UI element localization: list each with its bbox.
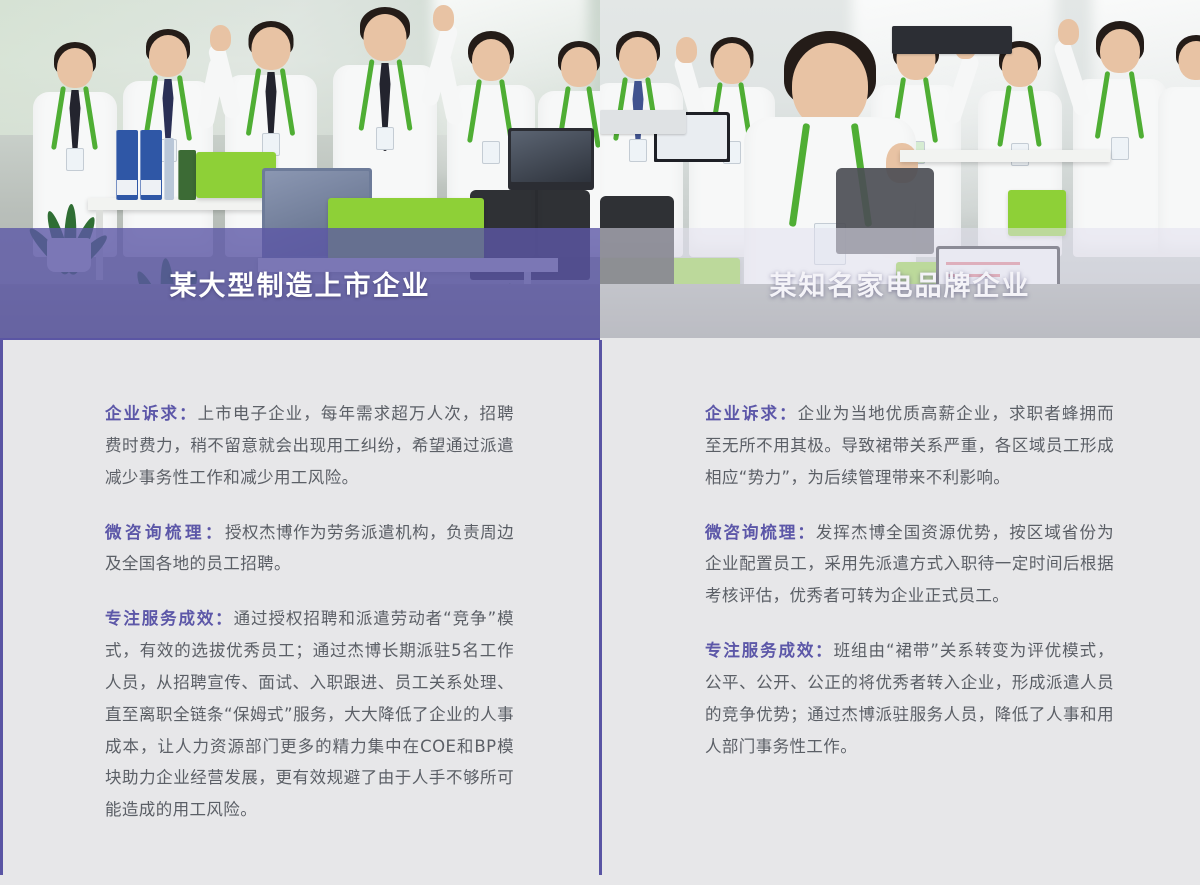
monitor — [508, 128, 594, 190]
banner-right: 某知名家电品牌企业 — [600, 228, 1200, 338]
divider-vertical-center — [599, 340, 602, 875]
paragraph-lead: 专注服务成效： — [105, 609, 234, 628]
paragraph-demand: 企业诉求：企业为当地优质高薪企业，求职者蜂拥而至无所不用其极。导致裙带关系严重，… — [705, 398, 1114, 494]
paragraph-lead: 微咨询梳理： — [705, 523, 816, 542]
binder — [116, 130, 138, 200]
desk — [900, 150, 1110, 162]
banner-title-left: 某大型制造上市企业 — [170, 264, 431, 303]
paragraph-lead: 企业诉求： — [705, 404, 798, 423]
binder — [140, 130, 162, 200]
keyboard — [600, 110, 686, 134]
paragraph-lead: 专注服务成效： — [705, 641, 834, 660]
binder — [178, 150, 196, 200]
paragraph-lead: 微咨询梳理： — [105, 523, 225, 542]
banner-left: 某大型制造上市企业 — [0, 228, 600, 338]
case-study-page: 某大型制造上市企业 某知名家电品牌企业 企业诉求：上市电子企业，每年需求超万人次… — [0, 0, 1200, 885]
binder — [164, 138, 174, 200]
divider-vertical-left-edge — [0, 340, 3, 875]
case-column-right: 企业诉求：企业为当地优质高薪企业，求职者蜂拥而至无所不用其极。导致裙带关系严重，… — [600, 338, 1200, 885]
keyboard — [892, 26, 1012, 54]
paragraph-demand: 企业诉求：上市电子企业，每年需求超万人次，招聘费时费力，稍不留意就会出现用工纠纷… — [105, 398, 514, 494]
paragraph-outcome: 专注服务成效：通过授权招聘和派遣劳动者“竞争”模式，有效的选拔优秀员工；通过杰博… — [105, 603, 514, 826]
divider-horizontal-left — [0, 338, 600, 340]
photo-strip: 某大型制造上市企业 某知名家电品牌企业 — [0, 0, 1200, 338]
person-figure — [1070, 21, 1170, 257]
paragraph-lead: 企业诉求： — [105, 404, 198, 423]
paragraph-consulting: 微咨询梳理：授权杰博作为劳务派遣机构，负责周边及全国各地的员工招聘。 — [105, 517, 514, 581]
paragraph-body: 通过授权招聘和派遣劳动者“竞争”模式，有效的选拔优秀员工；通过杰博长期派驻5名工… — [105, 609, 514, 819]
banner-title-right: 某知名家电品牌企业 — [770, 264, 1031, 303]
paragraph-outcome: 专注服务成效：班组由“裙带”关系转变为评优模式，公平、公开、公正的将优秀者转入企… — [705, 635, 1114, 762]
person-figure — [1156, 35, 1200, 257]
paragraph-consulting: 微咨询梳理：发挥杰博全国资源优势，按区域省份为企业配置员工，采用先派遣方式入职待… — [705, 517, 1114, 613]
case-column-left: 企业诉求：上市电子企业，每年需求超万人次，招聘费时费力，稍不留意就会出现用工纠纷… — [0, 338, 600, 885]
